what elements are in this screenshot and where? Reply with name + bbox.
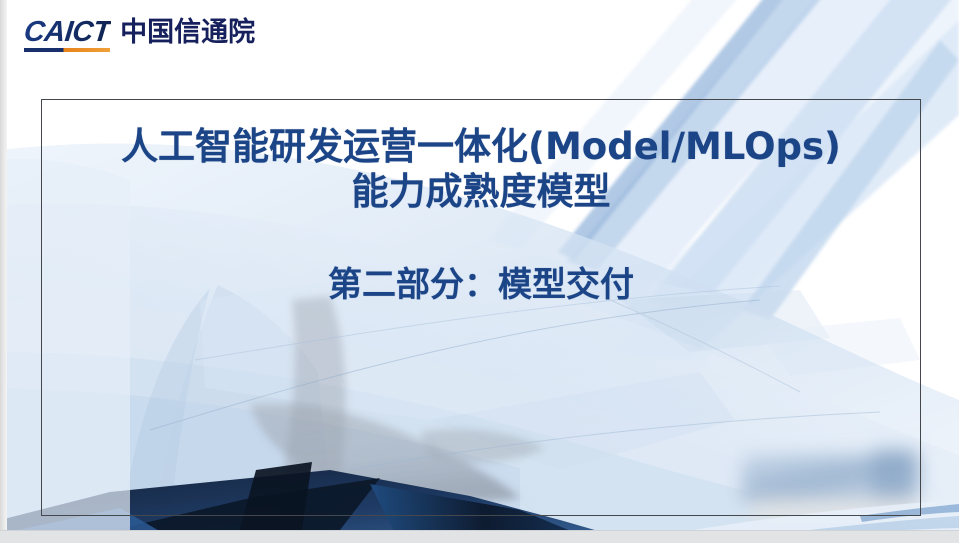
title-block: 人工智能研发运营一体化(Model/MLOps) 能力成熟度模型 第二部分：模型… bbox=[41, 124, 921, 214]
bottom-edge-hairline bbox=[0, 530, 959, 531]
caict-chinese-name: 中国信通院 bbox=[120, 19, 255, 46]
caict-wordmark: CAICT bbox=[22, 18, 111, 47]
bottom-edge-strip bbox=[0, 531, 959, 543]
left-edge-strip bbox=[0, 0, 7, 543]
logo-underline-icon bbox=[24, 48, 110, 52]
caict-logo: CAICT 中国信通院 bbox=[24, 18, 255, 47]
caict-wordmark-group: CAICT bbox=[24, 18, 110, 47]
main-title-line-1: 人工智能研发运营一体化(Model/MLOps) bbox=[41, 124, 921, 169]
main-title-line-2: 能力成熟度模型 bbox=[41, 169, 921, 214]
section-subtitle: 第二部分：模型交付 bbox=[41, 265, 921, 306]
presentation-slide: CAICT 中国信通院 人工智能研发运营一体化(Model/MLOps) 能力成… bbox=[0, 0, 959, 543]
